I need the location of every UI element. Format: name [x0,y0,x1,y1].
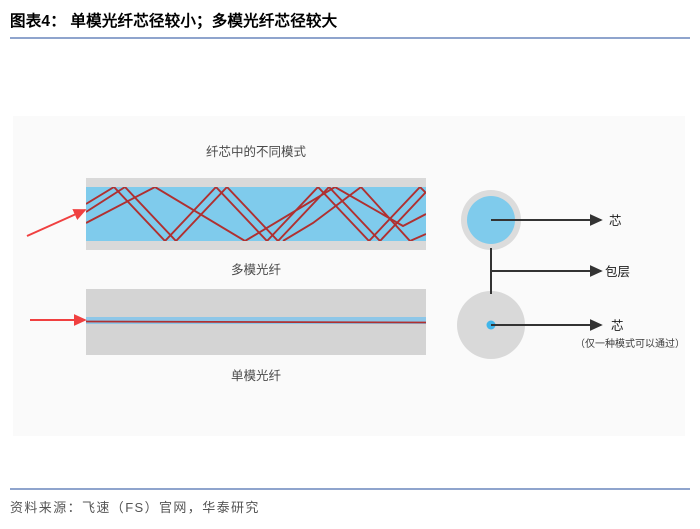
multimode-caption: 多模光纤 [231,263,282,277]
cladding-label: 包层 [605,265,630,279]
figure-header: 图表4： 单模光纤芯径较小；多模光纤芯径较大 [0,0,700,46]
singlemode-core-label: 芯 [611,319,624,333]
footer-divider [10,488,690,490]
singlemode-caption: 单模光纤 [231,369,282,383]
multimode-core-label: 芯 [609,214,622,228]
singlemode-core-note: （仅一种模式可以通过） [575,337,685,350]
singlemode-ray-path [86,322,426,323]
illustration-background [13,116,685,436]
page-title: 图表4： 单模光纤芯径较小；多模光纤芯径较大 [10,9,337,31]
fiber-diagram-canvas: 纤芯中的不同模式 多模光纤 [13,116,685,436]
multimode-core [86,187,426,241]
header-divider [10,37,690,39]
modes-heading: 纤芯中的不同模式 [206,144,307,159]
figure-source: 资料来源：飞速（FS）官网，华泰研究 [10,497,260,516]
fiber-illustration: 纤芯中的不同模式 多模光纤 [13,116,685,436]
